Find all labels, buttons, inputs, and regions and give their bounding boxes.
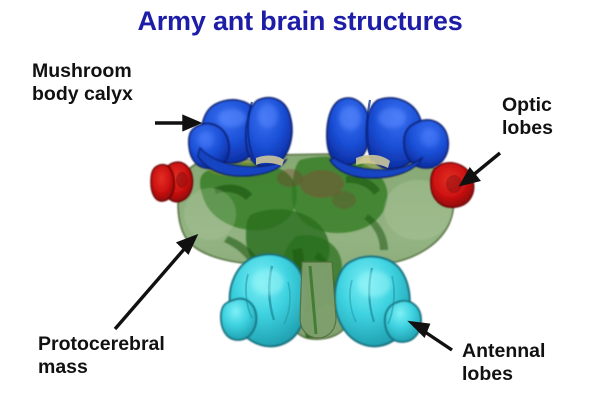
optic-lobe-left-shape (151, 162, 193, 201)
label-antennal-lobes: Antennal lobes (462, 340, 545, 386)
label-mushroom-body-calyx: Mushroom body calyx (32, 60, 133, 106)
label-protocerebral-mass: Protocerebral mass (38, 333, 165, 379)
antennal-lobe-left-shape (221, 254, 306, 346)
antennal-lobe-right-shape (335, 257, 421, 347)
optic-lobe-right-shape (431, 163, 474, 208)
label-optic-lobes: Optic lobes (502, 94, 553, 140)
figure-canvas: Army ant brain structures (0, 0, 600, 402)
midline-green-strip (300, 262, 336, 338)
